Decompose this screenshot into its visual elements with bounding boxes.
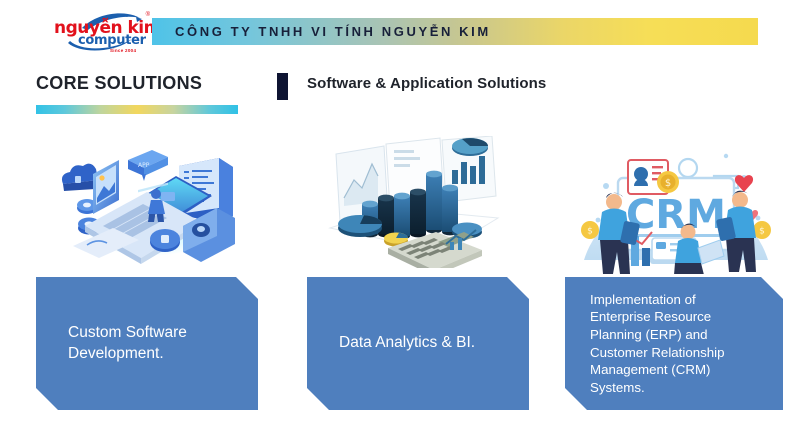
- company-logo: nguyễn kim computer Since 2004 ®: [52, 8, 148, 52]
- svg-text:APP: APP: [138, 162, 150, 169]
- card-line-6: Systems.: [590, 379, 725, 397]
- card-line-2: Development.: [68, 344, 187, 365]
- software-solutions-heading: Software & Application Solutions: [307, 75, 546, 92]
- crm-people-monitor-icon: CRM $ $ $: [576, 134, 776, 274]
- svg-text:$: $: [665, 178, 671, 189]
- laptop-code-development-icon: APP: [55, 136, 245, 268]
- slide-root: nguyễn kim computer Since 2004 ® CÔNG TY…: [0, 0, 800, 448]
- company-name-text: CÔNG TY TNHH VI TÍNH NGUYỄN KIM: [175, 18, 491, 45]
- card-line-1: Implementation of: [590, 291, 725, 309]
- card-custom-software-development[interactable]: Custom Software Development.: [36, 277, 258, 410]
- card-data-analytics-bi[interactable]: Data Analytics & BI.: [307, 277, 529, 410]
- card-line-4: Customer Relationship: [590, 344, 725, 362]
- svg-text:$: $: [587, 227, 593, 237]
- card-label: Data Analytics & BI.: [307, 333, 493, 354]
- card-line-5: Management (CRM): [590, 361, 725, 379]
- logo-since-text: Since 2004: [110, 48, 136, 53]
- card-line-1: Data Analytics & BI.: [339, 333, 475, 354]
- card-line-2: Enterprise Resource: [590, 308, 725, 326]
- software-section-accent-bar: [277, 73, 288, 100]
- card-erp-crm-implementation[interactable]: Implementation of Enterprise Resource Pl…: [565, 277, 783, 410]
- card-label: Custom Software Development.: [36, 323, 205, 364]
- card-line-1: Custom Software: [68, 323, 187, 344]
- card-label: Implementation of Enterprise Resource Pl…: [565, 291, 743, 397]
- core-solutions-underline: [36, 105, 238, 114]
- logo-product-text: computer: [78, 33, 146, 48]
- bar-chart-calculator-analytics-icon: [322, 136, 512, 268]
- registered-mark-icon: ®: [146, 12, 150, 18]
- company-name-banner: CÔNG TY TNHH VI TÍNH NGUYỄN KIM: [152, 18, 758, 45]
- core-solutions-heading: CORE SOLUTIONS: [36, 73, 202, 94]
- card-line-3: Planning (ERP) and: [590, 326, 725, 344]
- svg-text:$: $: [759, 227, 765, 237]
- crm-monitor-label: CRM: [626, 192, 726, 238]
